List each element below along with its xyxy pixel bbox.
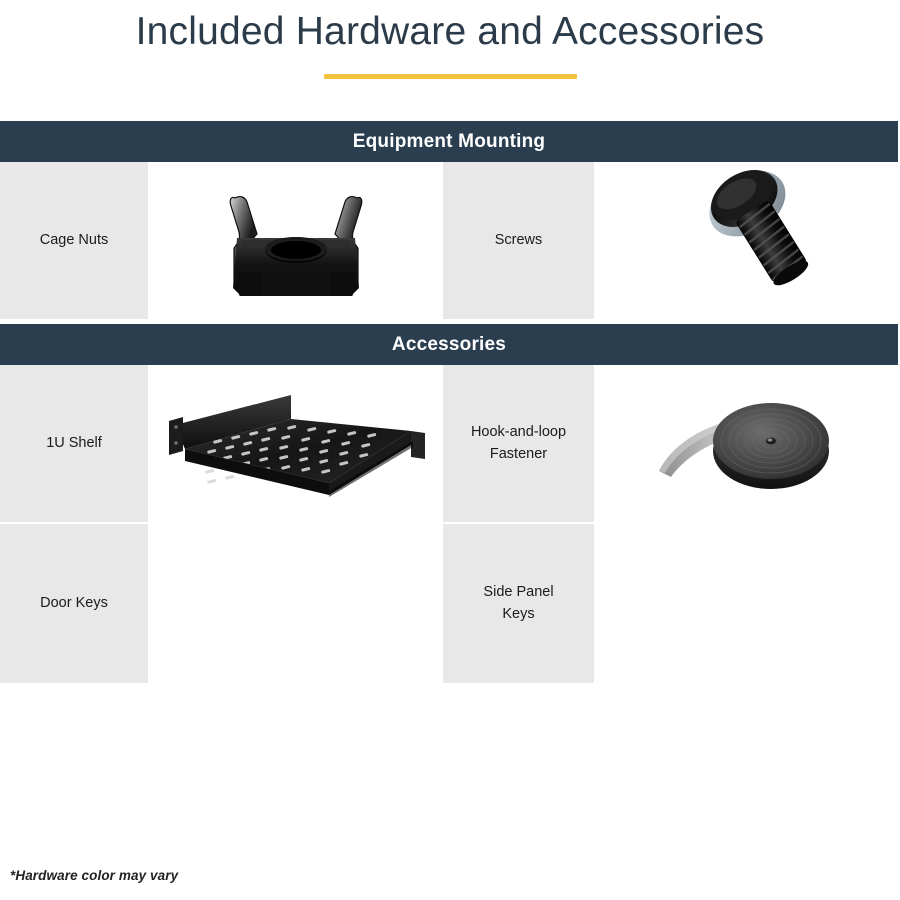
screw-image xyxy=(671,166,821,316)
cell-label-text: Screws xyxy=(495,230,543,251)
cell-image-hook-and-loop-fastener xyxy=(594,365,898,522)
cell-label-door-keys: Door Keys xyxy=(0,524,148,683)
cell-label-text: Side Panel Keys xyxy=(483,582,553,624)
cell-label-hook-and-loop-fastener: Hook-and-loop Fastener xyxy=(443,365,594,522)
section-header-label: Accessories xyxy=(392,334,506,356)
cell-label-text: 1U Shelf xyxy=(46,433,102,454)
cell-label-text: Hook-and-loop Fastener xyxy=(471,422,566,464)
cell-label-side-panel-keys: Side Panel Keys xyxy=(443,524,594,683)
cell-image-1u-shelf xyxy=(148,365,443,522)
cell-label-text: Cage Nuts xyxy=(40,230,109,251)
title-underline-accent xyxy=(324,74,577,79)
section-header-label: Equipment Mounting xyxy=(353,131,546,153)
cell-image-screws xyxy=(594,162,898,319)
footnote-hardware-color: *Hardware color may vary xyxy=(10,868,178,883)
cell-label-line-1: Side Panel xyxy=(483,584,553,600)
section-header-accessories: Accessories xyxy=(0,324,898,365)
cell-label-line-2: Fastener xyxy=(490,446,547,462)
cell-label-1u-shelf: 1U Shelf xyxy=(0,365,148,522)
table-row: Door Keys Side Panel Keys xyxy=(0,524,898,683)
cell-label-screws: Screws xyxy=(443,162,594,319)
table-row: 1U Shelf xyxy=(0,365,898,522)
hook-and-loop-roll-image xyxy=(641,389,851,499)
cell-label-text: Door Keys xyxy=(40,593,108,614)
cell-image-cage-nuts xyxy=(148,162,443,319)
cell-label-cage-nuts: Cage Nuts xyxy=(0,162,148,319)
hardware-table: Equipment Mounting Cage Nuts xyxy=(0,121,898,683)
table-row: Cage Nuts xyxy=(0,162,898,319)
cell-label-line-2: Keys xyxy=(502,606,534,622)
page-title: Included Hardware and Accessories xyxy=(0,8,900,57)
cell-image-side-panel-keys-empty xyxy=(594,524,898,683)
cell-image-door-keys-empty xyxy=(148,524,443,683)
cell-label-line-1: Hook-and-loop xyxy=(471,424,566,440)
page-header: Included Hardware and Accessories xyxy=(0,0,900,79)
cage-nut-image xyxy=(201,166,391,316)
rack-shelf-image xyxy=(161,379,431,509)
section-header-equipment-mounting: Equipment Mounting xyxy=(0,121,898,162)
